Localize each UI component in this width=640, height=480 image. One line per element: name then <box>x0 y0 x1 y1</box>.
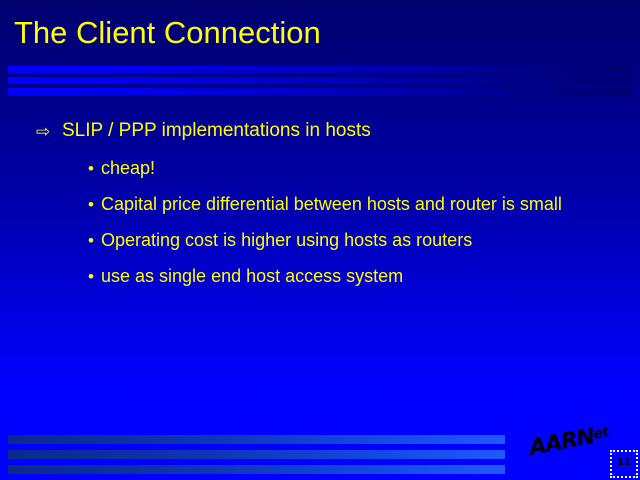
slide-body: ⇨ SLIP / PPP implementations in hosts • … <box>0 118 640 289</box>
bullet-level2-item: • use as single end host access system <box>88 264 640 289</box>
aarnet-logo-suffix: et <box>592 424 610 443</box>
slide-title: The Client Connection <box>14 14 321 52</box>
aarnet-logo-main: AARN <box>527 424 596 461</box>
bullet-level2-text: cheap! <box>101 156 155 181</box>
page-number: 11 <box>612 457 636 468</box>
bullet-level2-text: Capital price differential between hosts… <box>101 192 562 217</box>
bullet-dot-icon: • <box>88 264 101 289</box>
bottom-bar-2 <box>8 450 505 459</box>
top-bar-1 <box>8 66 632 73</box>
aarnet-logo: AARNet <box>532 430 610 468</box>
bullet-level2-item: • Capital price differential between hos… <box>88 192 640 217</box>
presentation-slide: The Client Connection ⇨ SLIP / PPP imple… <box>0 0 640 480</box>
bullet-level1-text: SLIP / PPP implementations in hosts <box>62 118 371 144</box>
bottom-bar-1 <box>8 435 505 444</box>
page-number-box: 11 <box>610 450 638 478</box>
bottom-bar-3 <box>8 465 505 474</box>
bullet-level2-text: use as single end host access system <box>101 264 403 289</box>
bottom-decorative-bars <box>8 435 505 475</box>
bullet-level2-text: Operating cost is higher using hosts as … <box>101 228 472 253</box>
top-decorative-bars <box>8 66 632 96</box>
bullet-dot-icon: • <box>88 228 101 253</box>
arrow-right-icon: ⇨ <box>36 118 62 145</box>
bullet-level2-item: • cheap! <box>88 156 640 181</box>
bullet-level1: ⇨ SLIP / PPP implementations in hosts <box>36 118 640 145</box>
top-bar-3 <box>8 88 632 95</box>
bullet-dot-icon: • <box>88 156 101 181</box>
top-bar-2 <box>8 77 632 84</box>
bullet-level2-item: • Operating cost is higher using hosts a… <box>88 228 640 253</box>
aarnet-logo-text: AARNet <box>527 421 611 461</box>
bullet-dot-icon: • <box>88 192 101 217</box>
